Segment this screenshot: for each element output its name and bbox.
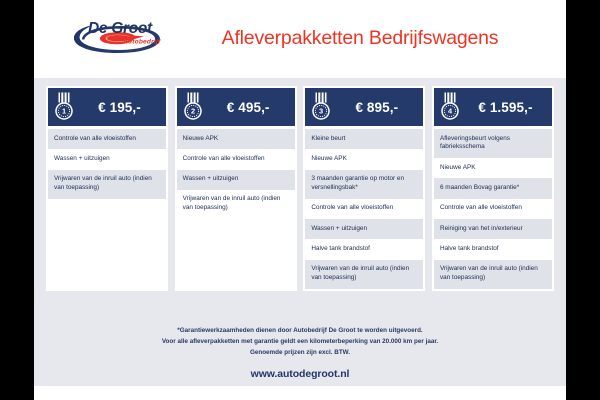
package-card-header: 4 € 1.595,- <box>434 88 552 126</box>
package-item: Halve tank brandstof <box>305 239 423 259</box>
package-item: Kleine beurt <box>305 129 423 149</box>
package-price: € 495,- <box>206 100 295 115</box>
website-link[interactable]: www.autodegroot.nl <box>34 368 566 380</box>
package-item: Vrijwaren van de inruil auto (indien van… <box>305 260 423 289</box>
medal-rank-number: 4 <box>448 107 453 116</box>
package-items: Controle van alle vloeistoffen Wassen + … <box>48 129 166 199</box>
package-item: Wassen + uitzuigen <box>177 170 295 190</box>
sheet-bottom-strip <box>34 386 566 400</box>
flyer-sheet: De Groot Autobedrijf Afleverpakketten Be… <box>34 0 566 400</box>
de-groot-logo: De Groot Autobedrijf <box>48 16 170 62</box>
package-item: Afleveringsbeurt volgens fabrieksschema <box>434 129 552 158</box>
package-item: Controle van alle vloeistoffen <box>48 129 166 149</box>
page-title: Afleverpakketten Bedrijfswagens <box>170 29 566 49</box>
package-item: Vrijwaren van de inruil auto (indien van… <box>48 170 166 199</box>
package-item: 3 maanden garantie op motor en versnelli… <box>305 170 423 199</box>
package-card-3[interactable]: 3 € 895,- Kleine beurt Nieuwe APK 3 maan… <box>303 86 425 291</box>
package-item: Nieuwe APK <box>305 149 423 169</box>
package-card-header: 2 € 495,- <box>177 88 295 126</box>
package-card-header: 1 € 195,- <box>48 88 166 126</box>
package-item: Halve tank brandstof <box>434 239 552 259</box>
medal-rank-icon: 1 <box>54 92 74 122</box>
package-item: Nieuwe APK <box>177 129 295 149</box>
header: De Groot Autobedrijf Afleverpakketten Be… <box>34 0 566 78</box>
disclaimer-line-2: Voor alle afleverpakketten met garantie … <box>34 337 566 348</box>
disclaimer-line-1: *Garantiewerkzaamheden dienen door Autob… <box>34 326 566 337</box>
package-items: Nieuwe APK Controle van alle vloeistoffe… <box>177 129 295 219</box>
package-price: € 195,- <box>77 100 166 115</box>
logo-wordmark: De Groot <box>88 20 153 37</box>
package-item: 6 maanden Bovag garantie* <box>434 178 552 198</box>
package-item: Nieuwe APK <box>434 158 552 178</box>
medal-rank-number: 1 <box>62 107 66 116</box>
flyer-stage: De Groot Autobedrijf Afleverpakketten Be… <box>0 0 600 400</box>
package-item: Reiniging van het in/exterieur <box>434 219 552 239</box>
disclaimer-line-3: Genoemde prijzen zijn excl. BTW. <box>34 348 566 359</box>
package-item: Controle van alle vloeistoffen <box>434 199 552 219</box>
package-item: Controle van alle vloeistoffen <box>177 149 295 169</box>
package-cards: 1 € 195,- Controle van alle vloeistoffen… <box>34 86 566 291</box>
package-card-2[interactable]: 2 € 495,- Nieuwe APK Controle van alle v… <box>175 86 297 291</box>
package-item: Vrijwaren van de inruil auto (indien van… <box>434 260 552 289</box>
logo-graphic: De Groot Autobedrijf <box>48 16 170 62</box>
package-card-4[interactable]: 4 € 1.595,- Afleveringsbeurt volgens fab… <box>432 86 554 291</box>
package-item: Vrijwaren van de inruil auto (indien van… <box>177 190 295 219</box>
medal-rank-icon: 2 <box>183 92 203 122</box>
medal-rank-icon: 4 <box>440 92 460 122</box>
medal-rank-icon: 3 <box>311 92 331 122</box>
package-card-1[interactable]: 1 € 195,- Controle van alle vloeistoffen… <box>46 86 168 291</box>
footer: *Garantiewerkzaamheden dienen door Autob… <box>34 326 566 380</box>
logo-subwordmark: Autobedrijf <box>122 39 161 46</box>
package-item: Wassen + uitzuigen <box>48 149 166 169</box>
package-price: € 895,- <box>334 100 423 115</box>
package-price: € 1.595,- <box>463 100 552 115</box>
package-items: Kleine beurt Nieuwe APK 3 maanden garant… <box>305 129 423 289</box>
package-card-header: 3 € 895,- <box>305 88 423 126</box>
package-item: Wassen + uitzuigen <box>305 219 423 239</box>
package-items: Afleveringsbeurt volgens fabrieksschema … <box>434 129 552 289</box>
package-item: Controle van alle vloeistoffen <box>305 199 423 219</box>
medal-rank-number: 3 <box>319 107 323 116</box>
medal-rank-number: 2 <box>191 107 195 116</box>
